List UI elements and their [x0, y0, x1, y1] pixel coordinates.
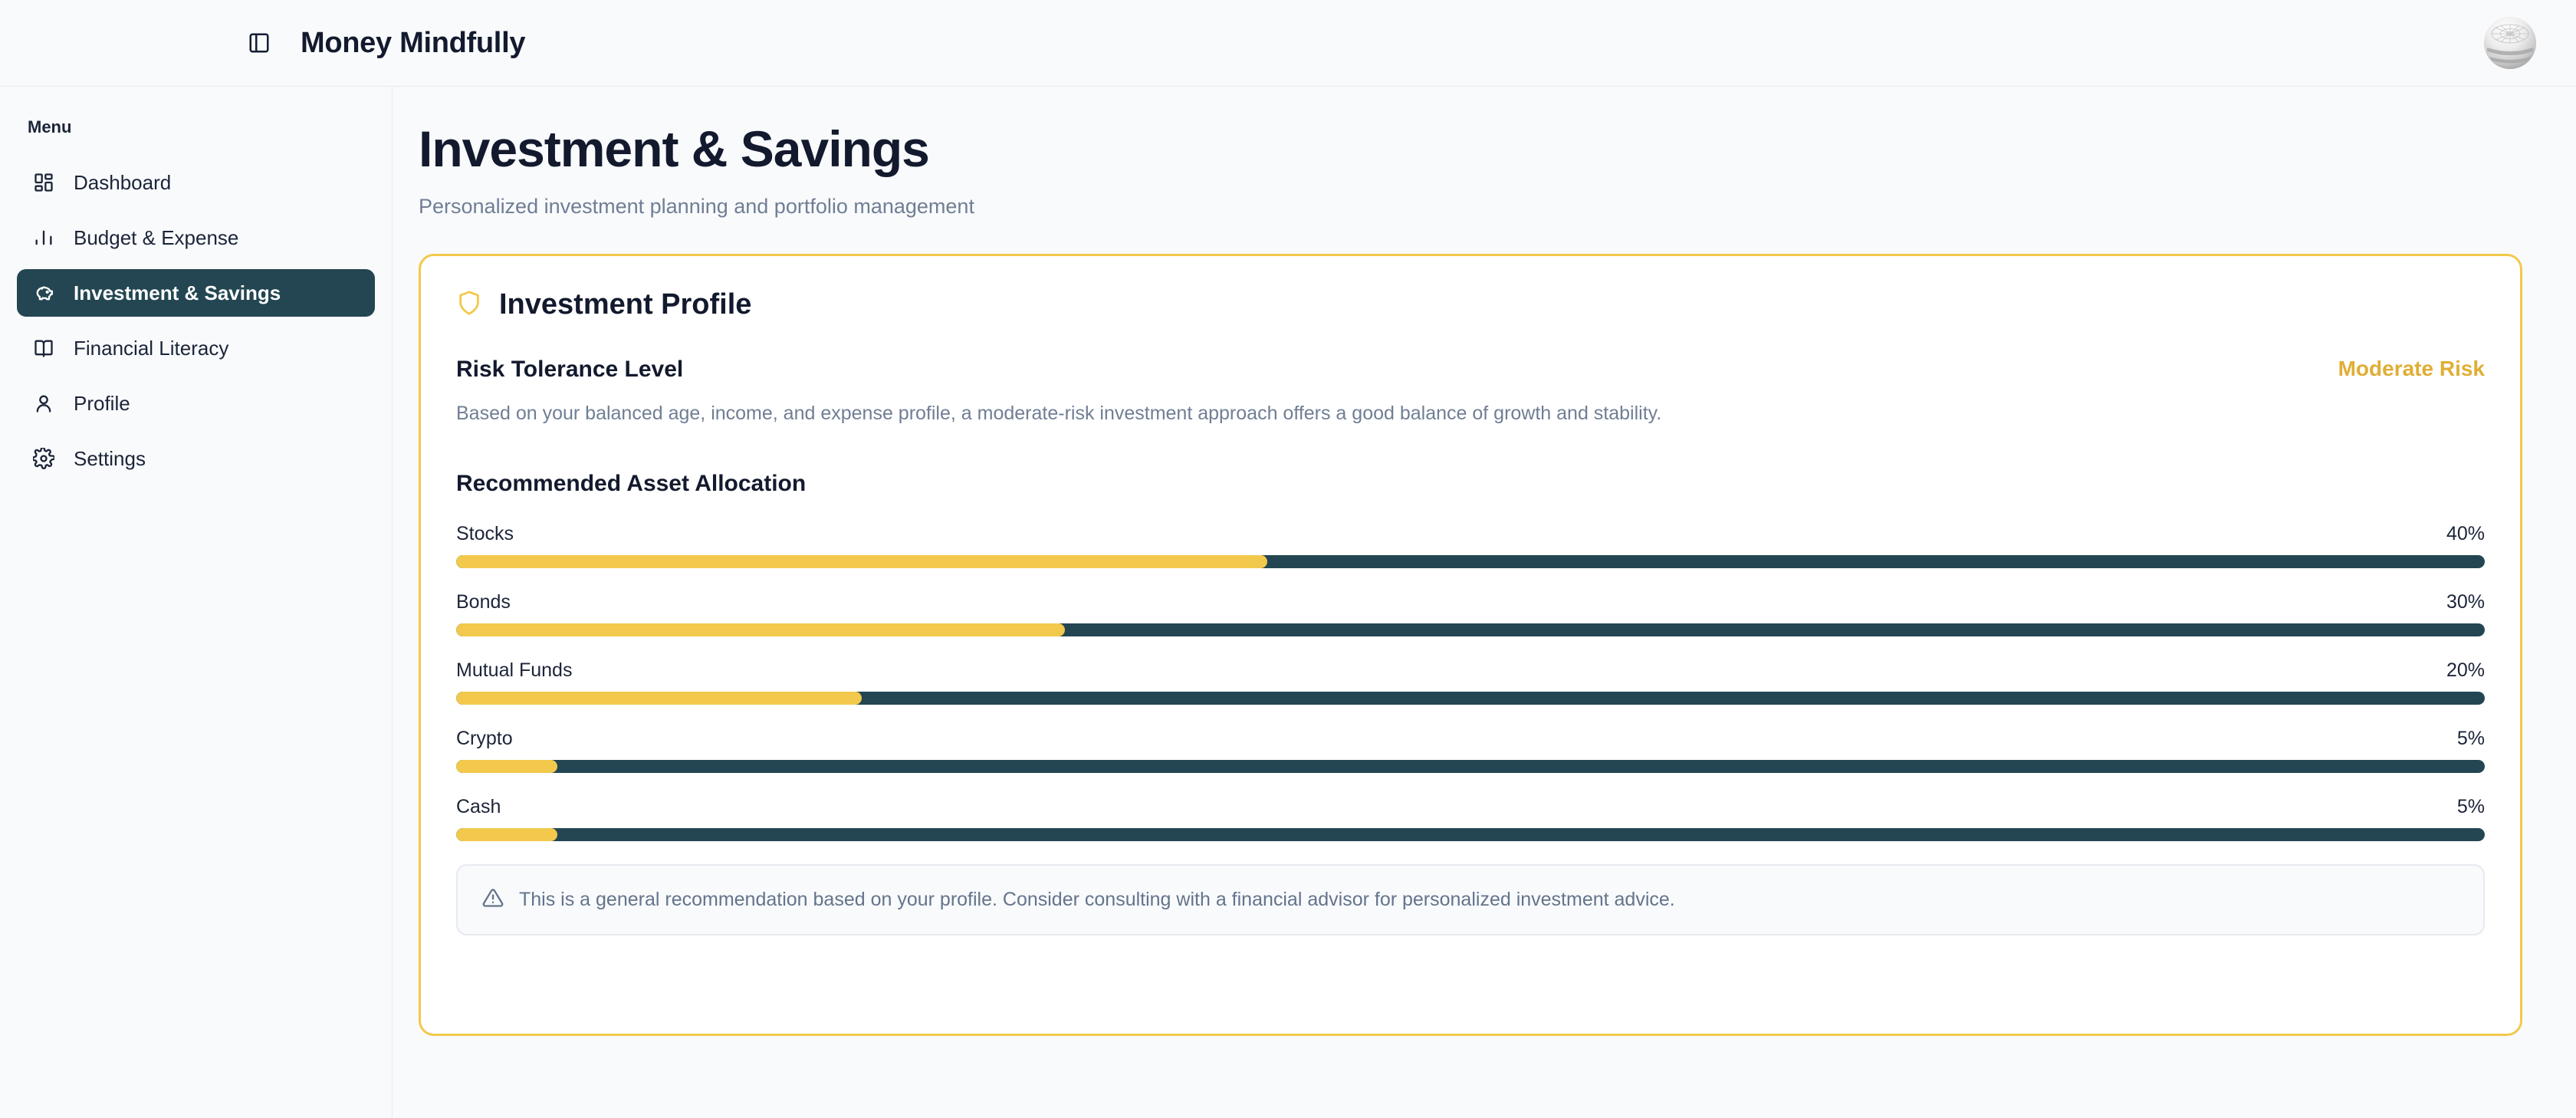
allocation-progress-fill — [456, 828, 557, 841]
allocation-progress-track — [456, 692, 2485, 705]
list-item: Mutual Funds 20% — [456, 659, 2485, 705]
panel-toggle-icon[interactable] — [244, 28, 274, 58]
allocation-heading: Recommended Asset Allocation — [456, 471, 2485, 497]
allocation-progress-fill — [456, 555, 1267, 568]
allocation-progress-track — [456, 828, 2485, 841]
list-item: Crypto 5% — [456, 728, 2485, 773]
sidebar-item-label: Settings — [74, 447, 146, 471]
sidebar-item-label: Budget & Expense — [74, 226, 238, 250]
investment-profile-card: Investment Profile Risk Tolerance Level … — [419, 254, 2522, 1036]
disclaimer-text: This is a general recommendation based o… — [519, 889, 1675, 911]
sidebar: Menu Dashboard Budget & Expense — [0, 87, 393, 1118]
allocation-label: Mutual Funds — [456, 659, 572, 682]
risk-tolerance-description: Based on your balanced age, income, and … — [456, 400, 2485, 427]
app-brand-title: Money Mindfully — [301, 27, 525, 60]
allocation-percent: 20% — [2446, 659, 2485, 682]
allocation-progress-track — [456, 760, 2485, 773]
layout-grid-icon — [31, 169, 57, 196]
book-open-icon — [31, 335, 57, 361]
page-subtitle: Personalized investment planning and por… — [419, 195, 2522, 219]
allocation-label: Stocks — [456, 523, 514, 545]
sidebar-item-settings[interactable]: Settings — [17, 435, 375, 482]
bar-chart-icon — [31, 225, 57, 251]
gear-icon — [31, 446, 57, 472]
allocation-progress-fill — [456, 760, 557, 773]
sidebar-item-profile[interactable]: Profile — [17, 380, 375, 427]
allocation-progress-track — [456, 623, 2485, 636]
allocation-percent: 5% — [2457, 796, 2485, 818]
risk-tolerance-row: Risk Tolerance Level Moderate Risk — [456, 357, 2485, 383]
sidebar-item-budget-expense[interactable]: Budget & Expense — [17, 214, 375, 261]
warning-triangle-icon — [482, 887, 504, 912]
allocation-progress-track — [456, 555, 2485, 568]
sidebar-item-label: Financial Literacy — [74, 337, 228, 360]
risk-tolerance-heading: Risk Tolerance Level — [456, 357, 683, 383]
sidebar-item-investment-savings[interactable]: Investment & Savings — [17, 269, 375, 317]
allocation-percent: 5% — [2457, 728, 2485, 750]
piggy-bank-icon — [31, 280, 57, 306]
allocation-list: Stocks 40% Bonds 30% — [456, 523, 2485, 841]
shield-icon — [456, 290, 482, 320]
top-bar: Money Mindfully — [0, 0, 2576, 87]
allocation-progress-fill — [456, 623, 1065, 636]
disclaimer-note: This is a general recommendation based o… — [456, 864, 2485, 936]
allocation-percent: 40% — [2446, 523, 2485, 545]
sidebar-item-label: Profile — [74, 392, 130, 416]
avatar[interactable] — [2484, 17, 2536, 69]
body-wrapper: Menu Dashboard Budget & Expense — [0, 87, 2576, 1118]
status-badge: Moderate Risk — [2338, 357, 2485, 381]
list-item: Cash 5% — [456, 796, 2485, 841]
page-title: Investment & Savings — [419, 122, 2522, 176]
allocation-label: Crypto — [456, 728, 513, 750]
allocation-percent: 30% — [2446, 591, 2485, 613]
sidebar-item-dashboard[interactable]: Dashboard — [17, 159, 375, 206]
allocation-label: Bonds — [456, 591, 511, 613]
card-header: Investment Profile — [456, 288, 2485, 321]
user-icon — [31, 390, 57, 416]
main-content: Investment & Savings Personalized invest… — [393, 87, 2576, 1118]
allocation-progress-fill — [456, 692, 862, 705]
sidebar-item-label: Dashboard — [74, 171, 171, 195]
list-item: Stocks 40% — [456, 523, 2485, 568]
allocation-label: Cash — [456, 796, 501, 818]
sidebar-item-label: Investment & Savings — [74, 281, 281, 305]
card-title: Investment Profile — [499, 288, 751, 321]
list-item: Bonds 30% — [456, 591, 2485, 636]
sidebar-item-financial-literacy[interactable]: Financial Literacy — [17, 324, 375, 372]
app-root: Money Mindfully — [0, 0, 2576, 1118]
sidebar-section-label: Menu — [17, 117, 375, 137]
